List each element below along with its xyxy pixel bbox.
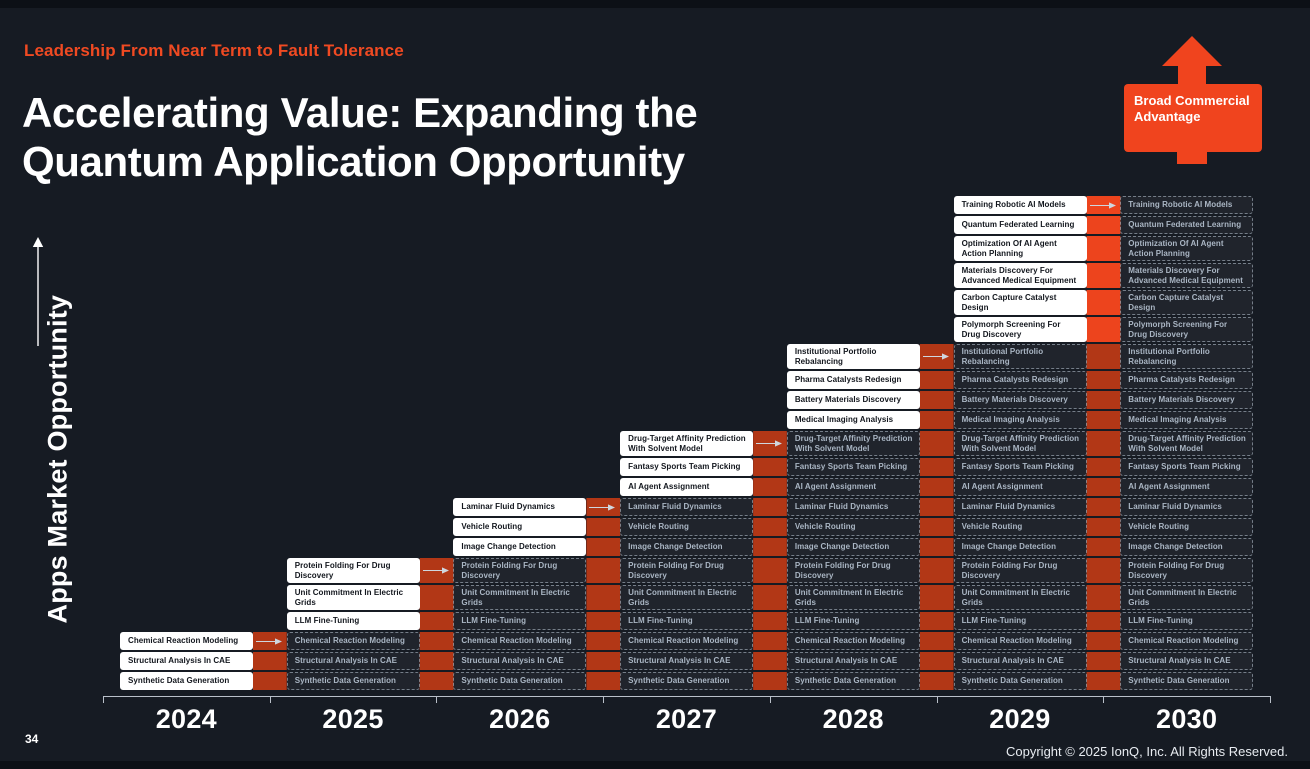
year-label-2027: 2027 bbox=[603, 704, 770, 735]
application-box[interactable]: Battery Materials Discovery bbox=[787, 391, 920, 409]
application-box[interactable]: Laminar Fluid Dynamics bbox=[620, 498, 753, 516]
application-box[interactable]: Materials Discovery For Advanced Medical… bbox=[954, 263, 1087, 288]
application-box[interactable]: Unit Commitment In Electric Grids bbox=[620, 585, 753, 610]
application-box[interactable]: Carbon Capture Catalyst Design bbox=[954, 290, 1087, 315]
application-box[interactable]: Fantasy Sports Team Picking bbox=[620, 458, 753, 476]
application-box[interactable]: Vehicle Routing bbox=[1120, 518, 1253, 536]
x-axis-tick bbox=[937, 696, 938, 703]
item-stack: Training Robotic AI ModelsQuantum Federa… bbox=[954, 196, 1087, 692]
application-box[interactable]: Unit Commitment In Electric Grids bbox=[1120, 585, 1253, 610]
x-axis-tick bbox=[270, 696, 271, 703]
application-box[interactable]: Protein Folding For Drug Discovery bbox=[453, 558, 586, 583]
application-box[interactable]: Laminar Fluid Dynamics bbox=[453, 498, 586, 516]
application-box[interactable]: Structural Analysis In CAE bbox=[620, 652, 753, 670]
application-box[interactable]: Laminar Fluid Dynamics bbox=[1120, 498, 1253, 516]
callout-label: Broad Commercial Advantage bbox=[1134, 93, 1254, 125]
year-label-2030: 2030 bbox=[1103, 704, 1270, 735]
application-box[interactable]: Synthetic Data Generation bbox=[120, 672, 253, 690]
application-box[interactable]: Image Change Detection bbox=[620, 538, 753, 556]
item-stack: Laminar Fluid DynamicsVehicle RoutingIma… bbox=[453, 498, 586, 692]
application-box[interactable]: Fantasy Sports Team Picking bbox=[1120, 458, 1253, 476]
application-box[interactable]: Battery Materials Discovery bbox=[1120, 391, 1253, 409]
application-box[interactable]: AI Agent Assignment bbox=[787, 478, 920, 496]
application-box[interactable]: Polymorph Screening For Drug Discovery bbox=[954, 317, 1087, 342]
application-box[interactable]: LLM Fine-Tuning bbox=[453, 612, 586, 630]
application-box[interactable]: Image Change Detection bbox=[787, 538, 920, 556]
application-box[interactable]: Unit Commitment In Electric Grids bbox=[954, 585, 1087, 610]
x-axis-tick bbox=[103, 696, 104, 703]
application-box[interactable]: Synthetic Data Generation bbox=[453, 672, 586, 690]
timeline-column-2025: Protein Folding For Drug DiscoveryUnit C… bbox=[270, 8, 437, 690]
x-axis-line bbox=[103, 696, 1270, 697]
application-box[interactable]: Structural Analysis In CAE bbox=[287, 652, 420, 670]
timeline-column-2024: Chemical Reaction ModelingStructural Ana… bbox=[103, 8, 270, 690]
application-box[interactable]: Medical Imaging Analysis bbox=[954, 411, 1087, 429]
application-box[interactable]: AI Agent Assignment bbox=[1120, 478, 1253, 496]
application-box[interactable]: AI Agent Assignment bbox=[620, 478, 753, 496]
application-box[interactable]: Chemical Reaction Modeling bbox=[954, 632, 1087, 650]
application-box[interactable]: AI Agent Assignment bbox=[954, 478, 1087, 496]
application-box[interactable]: Fantasy Sports Team Picking bbox=[954, 458, 1087, 476]
application-box[interactable]: Image Change Detection bbox=[1120, 538, 1253, 556]
year-label-2024: 2024 bbox=[103, 704, 270, 735]
application-box[interactable]: Synthetic Data Generation bbox=[954, 672, 1087, 690]
application-box[interactable]: Chemical Reaction Modeling bbox=[453, 632, 586, 650]
item-stack: Chemical Reaction ModelingStructural Ana… bbox=[120, 632, 253, 692]
broad-commercial-advantage-callout: Broad Commercial Advantage bbox=[1124, 84, 1262, 152]
application-box[interactable]: Vehicle Routing bbox=[787, 518, 920, 536]
application-box[interactable]: Drug-Target Affinity Prediction With Sol… bbox=[620, 431, 753, 456]
application-box[interactable]: Protein Folding For Drug Discovery bbox=[1120, 558, 1253, 583]
application-box[interactable]: Pharma Catalysts Redesign bbox=[954, 371, 1087, 389]
application-box[interactable]: Protein Folding For Drug Discovery bbox=[620, 558, 753, 583]
year-label-2029: 2029 bbox=[937, 704, 1104, 735]
item-stack: Protein Folding For Drug DiscoveryUnit C… bbox=[287, 558, 420, 692]
timeline-column-2028: Institutional Portfolio RebalancingPharm… bbox=[770, 8, 937, 690]
application-box[interactable]: Unit Commitment In Electric Grids bbox=[287, 585, 420, 610]
application-box[interactable]: Chemical Reaction Modeling bbox=[787, 632, 920, 650]
item-stack: Institutional Portfolio RebalancingPharm… bbox=[787, 344, 920, 692]
application-box[interactable]: Structural Analysis In CAE bbox=[1120, 652, 1253, 670]
application-box[interactable]: Unit Commitment In Electric Grids bbox=[453, 585, 586, 610]
application-box[interactable]: Synthetic Data Generation bbox=[1120, 672, 1253, 690]
copyright-notice: Copyright © 2025 IonQ, Inc. All Rights R… bbox=[1006, 744, 1288, 759]
application-box[interactable]: Structural Analysis In CAE bbox=[120, 652, 253, 670]
item-stack: Training Robotic AI ModelsQuantum Federa… bbox=[1120, 196, 1253, 692]
application-box[interactable]: Structural Analysis In CAE bbox=[787, 652, 920, 670]
application-box[interactable]: Chemical Reaction Modeling bbox=[120, 632, 253, 650]
year-label-2025: 2025 bbox=[270, 704, 437, 735]
application-box[interactable]: Chemical Reaction Modeling bbox=[287, 632, 420, 650]
application-box[interactable]: Protein Folding For Drug Discovery bbox=[787, 558, 920, 583]
application-box[interactable]: Optimization Of AI Agent Action Planning bbox=[954, 236, 1087, 261]
year-label-2028: 2028 bbox=[770, 704, 937, 735]
application-box[interactable]: Drug-Target Affinity Prediction With Sol… bbox=[787, 431, 920, 456]
application-box[interactable]: Structural Analysis In CAE bbox=[954, 652, 1087, 670]
application-box[interactable]: Image Change Detection bbox=[453, 538, 586, 556]
application-box[interactable]: Training Robotic AI Models bbox=[1120, 196, 1253, 214]
application-box[interactable]: Vehicle Routing bbox=[620, 518, 753, 536]
application-box[interactable]: Optimization Of AI Agent Action Planning bbox=[1120, 236, 1253, 261]
application-box[interactable]: Medical Imaging Analysis bbox=[1120, 411, 1253, 429]
timeline-column-2027: Drug-Target Affinity Prediction With Sol… bbox=[603, 8, 770, 690]
application-box[interactable]: Quantum Federated Learning bbox=[954, 216, 1087, 234]
application-box[interactable]: Synthetic Data Generation bbox=[620, 672, 753, 690]
application-box[interactable]: Pharma Catalysts Redesign bbox=[1120, 371, 1253, 389]
application-box[interactable]: Polymorph Screening For Drug Discovery bbox=[1120, 317, 1253, 342]
y-axis-label: Apps Market Opportunity bbox=[43, 384, 74, 624]
year-label-2026: 2026 bbox=[436, 704, 603, 735]
x-axis-tick bbox=[1270, 696, 1271, 703]
application-box[interactable]: Synthetic Data Generation bbox=[787, 672, 920, 690]
application-box[interactable]: Laminar Fluid Dynamics bbox=[954, 498, 1087, 516]
application-box[interactable]: Chemical Reaction Modeling bbox=[620, 632, 753, 650]
application-box[interactable]: Vehicle Routing bbox=[954, 518, 1087, 536]
application-box[interactable]: Pharma Catalysts Redesign bbox=[787, 371, 920, 389]
application-box[interactable]: LLM Fine-Tuning bbox=[287, 612, 420, 630]
application-box[interactable]: Image Change Detection bbox=[954, 538, 1087, 556]
page-number: 34 bbox=[25, 732, 38, 746]
application-box[interactable]: Laminar Fluid Dynamics bbox=[787, 498, 920, 516]
application-box[interactable]: Chemical Reaction Modeling bbox=[1120, 632, 1253, 650]
x-axis-tick bbox=[436, 696, 437, 703]
application-box[interactable]: Drug-Target Affinity Prediction With Sol… bbox=[954, 431, 1087, 456]
application-box[interactable]: Carbon Capture Catalyst Design bbox=[1120, 290, 1253, 315]
application-box[interactable]: Institutional Portfolio Rebalancing bbox=[954, 344, 1087, 369]
application-box[interactable]: Institutional Portfolio Rebalancing bbox=[1120, 344, 1253, 369]
application-box[interactable]: Quantum Federated Learning bbox=[1120, 216, 1253, 234]
application-box[interactable]: Protein Folding For Drug Discovery bbox=[954, 558, 1087, 583]
item-stack: Drug-Target Affinity Prediction With Sol… bbox=[620, 431, 753, 692]
application-box[interactable]: Structural Analysis In CAE bbox=[453, 652, 586, 670]
application-box[interactable]: Protein Folding For Drug Discovery bbox=[287, 558, 420, 583]
application-box[interactable]: LLM Fine-Tuning bbox=[954, 612, 1087, 630]
application-box[interactable]: Materials Discovery For Advanced Medical… bbox=[1120, 263, 1253, 288]
application-box[interactable]: Unit Commitment In Electric Grids bbox=[787, 585, 920, 610]
x-axis-tick bbox=[1103, 696, 1104, 703]
application-box[interactable]: Fantasy Sports Team Picking bbox=[787, 458, 920, 476]
application-box[interactable]: Medical Imaging Analysis bbox=[787, 411, 920, 429]
x-axis-tick bbox=[770, 696, 771, 703]
application-box[interactable]: Vehicle Routing bbox=[453, 518, 586, 536]
application-box[interactable]: Institutional Portfolio Rebalancing bbox=[787, 344, 920, 369]
application-box[interactable]: Training Robotic AI Models bbox=[954, 196, 1087, 214]
application-box[interactable]: LLM Fine-Tuning bbox=[1120, 612, 1253, 630]
application-box[interactable]: Drug-Target Affinity Prediction With Sol… bbox=[1120, 431, 1253, 456]
application-box[interactable]: Synthetic Data Generation bbox=[287, 672, 420, 690]
timeline-column-2029: Training Robotic AI ModelsQuantum Federa… bbox=[937, 8, 1104, 690]
callout-tail bbox=[1177, 148, 1207, 164]
timeline-column-2026: Laminar Fluid DynamicsVehicle RoutingIma… bbox=[436, 8, 603, 690]
application-box[interactable]: LLM Fine-Tuning bbox=[787, 612, 920, 630]
application-box[interactable]: LLM Fine-Tuning bbox=[620, 612, 753, 630]
x-axis-tick bbox=[603, 696, 604, 703]
application-box[interactable]: Battery Materials Discovery bbox=[954, 391, 1087, 409]
slide-canvas: Leadership From Near Term to Fault Toler… bbox=[0, 8, 1310, 761]
